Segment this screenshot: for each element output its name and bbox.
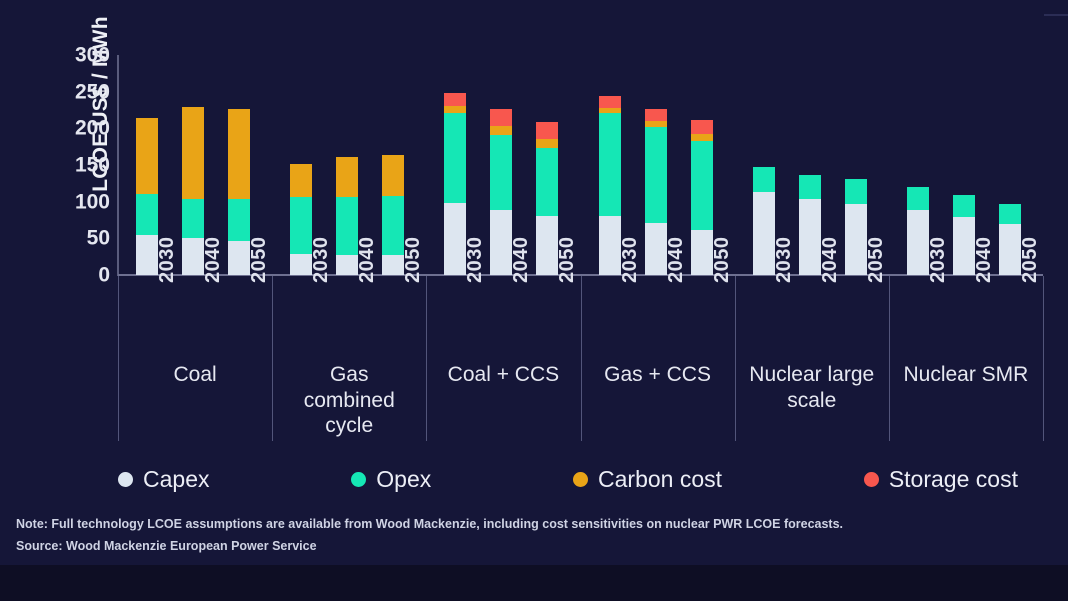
- group-separator: [735, 276, 736, 441]
- source-line: Source: Wood Mackenzie European Power Se…: [16, 536, 843, 558]
- bar-nuclear-smr-2050: [999, 204, 1021, 275]
- bar-segment-opex: [536, 148, 558, 216]
- legend-swatch-icon: [351, 472, 366, 487]
- bar-segment-opex: [799, 175, 821, 200]
- bar-segment-capex: [599, 216, 621, 275]
- bar-gas-combined-cycle-2040: [336, 157, 358, 275]
- group-separator: [889, 276, 890, 441]
- x-tick-label: 2030: [464, 237, 487, 284]
- bar-segment-carbon: [444, 106, 466, 113]
- bar-segment-opex: [444, 113, 466, 203]
- legend-item-carbon-cost[interactable]: Carbon cost: [573, 466, 722, 493]
- bar-segment-opex: [691, 141, 713, 230]
- legend-label: Capex: [143, 466, 209, 493]
- bar-segment-opex: [382, 196, 404, 255]
- group-label-line: Gas + CCS: [581, 362, 735, 388]
- bar-segment-carbon: [136, 118, 158, 194]
- x-tick-label: 2040: [510, 237, 533, 284]
- group-label: Nuclear largescale: [735, 362, 889, 413]
- group-separator: [118, 276, 119, 441]
- bar-segment-capex: [336, 255, 358, 275]
- legend-swatch-icon: [118, 472, 133, 487]
- bar-segment-capex: [382, 255, 404, 275]
- bar-segment-opex: [336, 197, 358, 256]
- legend-swatch-icon: [573, 472, 588, 487]
- bar-segment-opex: [290, 197, 312, 254]
- group-label-line: Nuclear SMR: [889, 362, 1043, 388]
- x-tick-label: 2040: [356, 237, 379, 284]
- y-tick-label: 150: [75, 155, 110, 176]
- bar-gas-ccs-2040: [645, 109, 667, 275]
- y-axis-ticks: 300250200150100500: [56, 55, 110, 276]
- legend-item-storage-cost[interactable]: Storage cost: [864, 466, 1018, 493]
- bar-nuclear-large-scale-2050: [845, 179, 867, 275]
- x-tick-label: 2050: [865, 237, 888, 284]
- bar-segment-carbon: [691, 134, 713, 141]
- bar-segment-capex: [907, 210, 929, 275]
- bar-segment-capex: [645, 223, 667, 275]
- bar-segment-capex: [999, 224, 1021, 275]
- bar-segment-capex: [953, 217, 975, 275]
- x-tick-label: 2050: [711, 237, 734, 284]
- legend-label: Carbon cost: [598, 466, 722, 493]
- bar-nuclear-smr-2040: [953, 195, 975, 275]
- bar-segment-carbon: [290, 164, 312, 196]
- bar-segment-opex: [136, 194, 158, 235]
- chart-canvas: LCOE US$ / MWh 300250200150100500 203020…: [0, 0, 1068, 601]
- x-tick-label: 2050: [1019, 237, 1042, 284]
- group-label: Gascombinedcycle: [272, 362, 426, 439]
- group-label-line: Gas: [272, 362, 426, 388]
- group-label-line: scale: [735, 388, 889, 414]
- x-tick-label: 2030: [927, 237, 950, 284]
- legend-item-opex[interactable]: Opex: [351, 466, 431, 493]
- group-label: Gas + CCS: [581, 362, 735, 388]
- bar-segment-carbon: [382, 155, 404, 195]
- bar-segment-opex: [490, 135, 512, 211]
- x-tick-label: 2030: [773, 237, 796, 284]
- bar-segment-storage: [645, 109, 667, 121]
- x-tick-label: 2050: [402, 237, 425, 284]
- legend-label: Opex: [376, 466, 431, 493]
- group-label: Coal + CCS: [426, 362, 580, 388]
- decorative-streak: [1044, 14, 1068, 16]
- bar-segment-opex: [845, 179, 867, 204]
- bar-segment-opex: [182, 199, 204, 239]
- bar-segment-opex: [907, 187, 929, 210]
- y-tick-label: 300: [75, 45, 110, 66]
- group-label: Nuclear SMR: [889, 362, 1043, 388]
- x-tick-label: 2040: [665, 237, 688, 284]
- x-tick-label: 2030: [310, 237, 333, 284]
- bar-segment-opex: [228, 199, 250, 241]
- y-tick-label: 100: [75, 191, 110, 212]
- bar-segment-storage: [444, 93, 466, 106]
- bottom-band: [0, 565, 1068, 601]
- legend-item-capex[interactable]: Capex: [118, 466, 209, 493]
- note-line: Note: Full technology LCOE assumptions a…: [16, 514, 843, 536]
- bar-segment-opex: [645, 127, 667, 223]
- bar-segment-storage: [536, 122, 558, 140]
- group-label: Coal: [118, 362, 272, 388]
- bar-coal-2030: [136, 118, 158, 275]
- bar-nuclear-smr-2030: [907, 187, 929, 275]
- bar-segment-carbon: [336, 157, 358, 197]
- bar-segment-carbon: [182, 107, 204, 199]
- bar-segment-capex: [136, 235, 158, 275]
- legend-label: Storage cost: [889, 466, 1018, 493]
- x-tick-label: 2030: [156, 237, 179, 284]
- bar-coal-2040: [182, 107, 204, 275]
- bar-segment-capex: [691, 230, 713, 275]
- bar-nuclear-large-scale-2040: [799, 175, 821, 275]
- bar-nuclear-large-scale-2030: [753, 167, 775, 275]
- group-label-line: Coal: [118, 362, 272, 388]
- bar-segment-storage: [490, 109, 512, 126]
- bar-segment-opex: [599, 113, 621, 216]
- bar-segment-capex: [182, 238, 204, 275]
- bar-segment-capex: [290, 254, 312, 275]
- bar-segment-carbon: [536, 139, 558, 148]
- x-tick-label: 2050: [248, 237, 271, 284]
- bar-segment-storage: [691, 120, 713, 134]
- y-tick-label: 200: [75, 118, 110, 139]
- bar-segment-carbon: [490, 126, 512, 135]
- group-label-line: combined: [272, 388, 426, 414]
- bar-gas-combined-cycle-2030: [290, 164, 312, 275]
- y-tick-label: 250: [75, 81, 110, 102]
- group-label-line: Coal + CCS: [426, 362, 580, 388]
- chart-legend: CapexOpexCarbon costStorage cost: [118, 466, 1018, 493]
- bar-segment-capex: [753, 192, 775, 275]
- x-tick-label: 2030: [619, 237, 642, 284]
- legend-swatch-icon: [864, 472, 879, 487]
- group-label-line: cycle: [272, 413, 426, 439]
- x-tick-label: 2040: [973, 237, 996, 284]
- bar-gas-combined-cycle-2050: [382, 155, 404, 275]
- y-tick-label: 0: [98, 265, 110, 286]
- bar-segment-capex: [799, 199, 821, 275]
- y-tick-label: 50: [87, 228, 110, 249]
- group-separator: [1043, 276, 1044, 441]
- bar-segment-capex: [845, 204, 867, 275]
- bar-segment-opex: [953, 195, 975, 217]
- bar-segment-carbon: [228, 109, 250, 199]
- footnotes: Note: Full technology LCOE assumptions a…: [16, 514, 843, 557]
- bar-segment-opex: [753, 167, 775, 192]
- bar-gas-ccs-2030: [599, 96, 621, 275]
- bar-gas-ccs-2050: [691, 120, 713, 275]
- bar-segment-capex: [228, 241, 250, 275]
- group-separator: [272, 276, 273, 441]
- group-label-line: Nuclear large: [735, 362, 889, 388]
- bar-segment-storage: [599, 96, 621, 108]
- group-separator: [581, 276, 582, 441]
- x-tick-label: 2040: [202, 237, 225, 284]
- bar-segment-opex: [999, 204, 1021, 224]
- group-separator: [426, 276, 427, 441]
- bar-coal-2050: [228, 109, 250, 275]
- x-tick-label: 2050: [556, 237, 579, 284]
- x-tick-label: 2040: [819, 237, 842, 284]
